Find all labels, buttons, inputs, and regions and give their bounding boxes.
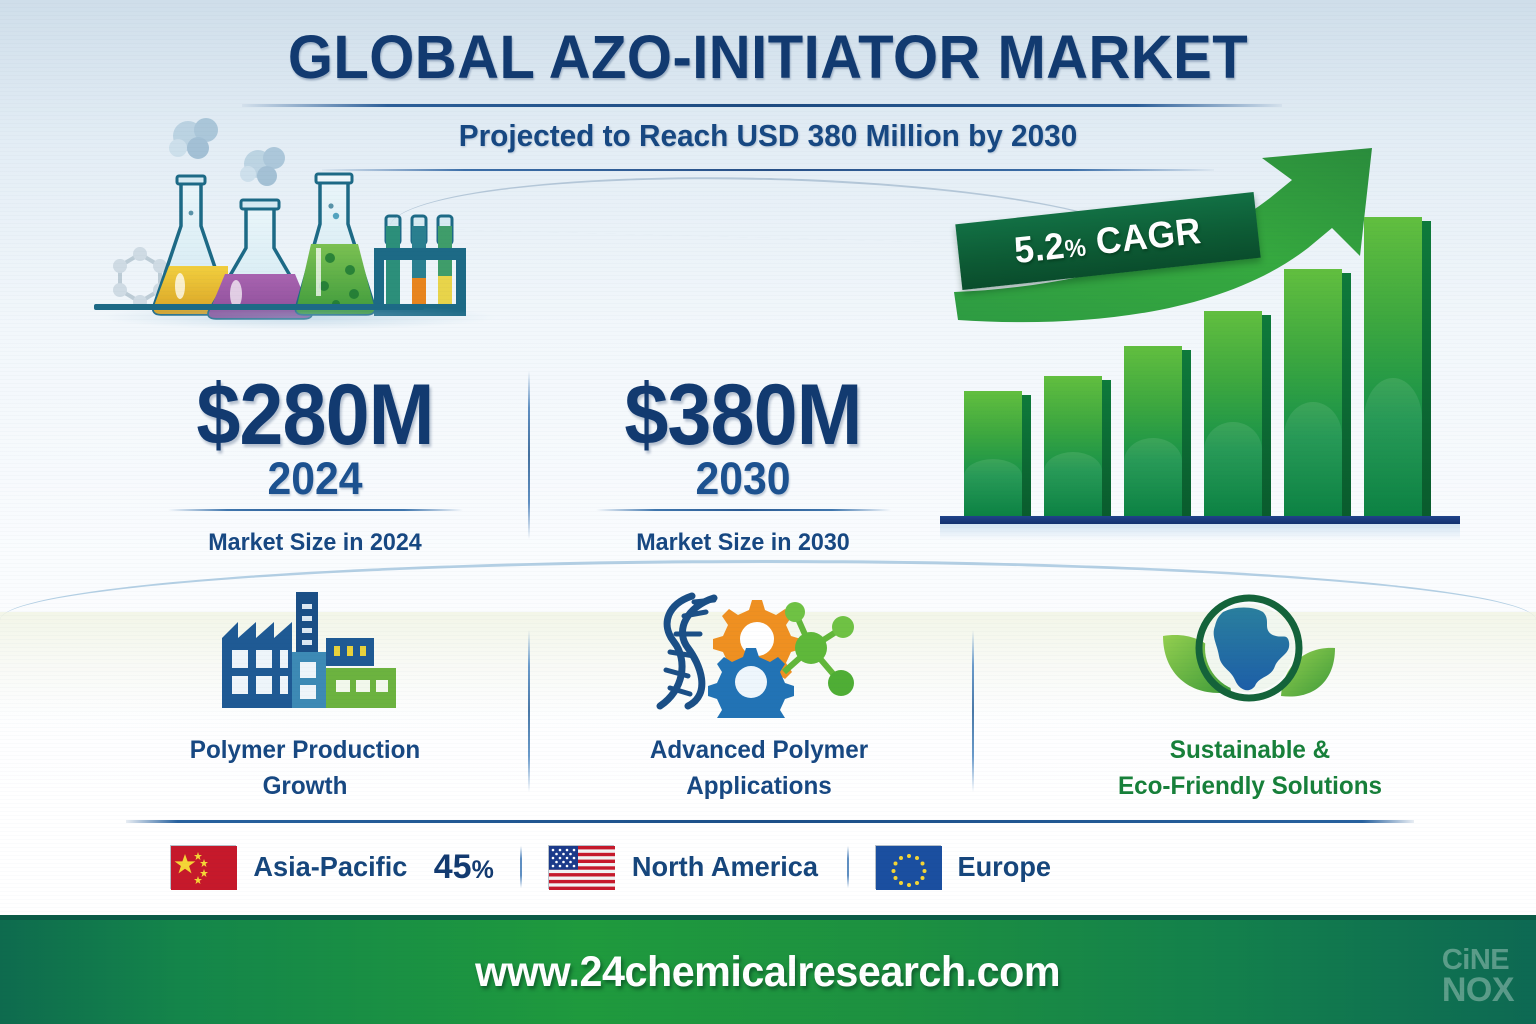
chart-bar-4 [1204,311,1262,516]
footer-bar: www.24chemicalresearch.com CiNE NOX [0,915,1536,1024]
cagr-percent-symbol: % [1064,233,1088,263]
kpi-year-2024: 2024 [158,456,472,501]
china-flag [170,845,236,889]
feature-label-2-line1: Advanced Polymer [650,736,868,764]
feature-separator-2 [972,630,974,792]
cagr-value: 5.2 [1013,225,1067,271]
bench-line [94,304,424,310]
usa-flag [548,845,614,889]
flask-green-icon [296,174,374,314]
feature-label-3-line2: Eco-Friendly Solutions [1118,772,1382,800]
chart-baseline [940,516,1460,524]
dna-helix [660,596,714,706]
feature-label-1-line2: Growth [263,772,348,800]
kpi-year-2030: 2030 [586,456,900,501]
regions-divider [126,820,1414,823]
kpi-card-2024: $280M 2024 Market Size in 2024 [150,372,480,557]
kpi-caption-2030: Market Size in 2030 [583,529,903,557]
chart-bar-1 [964,391,1022,516]
cagr-label: 5.2% CAGR [1013,210,1204,272]
chart-bar-3 [1124,346,1182,516]
kpi-caption-2024: Market Size in 2024 [155,529,475,557]
feature-label-3: Sustainable & Eco-Friendly Solutions [1075,732,1424,805]
region-asia-pacific[interactable]: Asia-Pacific 45% [170,845,494,889]
kpi-separator [528,371,530,539]
region-name-europe: Europe [957,851,1051,883]
chart-bar-2 [1044,376,1102,516]
region-separator-1 [520,846,522,888]
chart-bar-5 [1284,269,1342,516]
test-tube-rack-icon [374,216,466,316]
feature-advanced-polymer-applications: Advanced Polymer Applications [594,590,924,805]
kpi-value-2030: $380M [591,372,895,458]
feature-label-1-line1: Polymer Production [190,736,420,764]
vapor-molecule-icon [169,118,218,159]
feature-label-2: Advanced Polymer Applications [599,732,919,805]
feature-sustainable-eco-friendly: Sustainable & Eco-Friendly Solutions [1070,590,1430,805]
region-name-asia-pacific: Asia-Pacific [253,851,407,883]
flask-purple-icon [209,200,311,318]
feature-label-3-line1: Sustainable & [1170,736,1330,764]
region-separator-2 [847,846,849,888]
feature-label-2-line2: Applications [686,772,832,800]
cagr-word: CAGR [1094,210,1203,262]
dna-gears-molecule-icon [594,590,924,718]
feature-separator-1 [528,630,530,792]
watermark-line-2: NOX [1442,975,1514,1006]
infographic-canvas: GLOBAL AZO-INITIATOR MARKET Projected to… [0,0,1536,1024]
kpi-underline-2 [596,509,891,511]
molecule-nodes-green [785,602,854,696]
kpi-value-2024: $280M [163,372,467,458]
kpi-card-2030: $380M 2030 Market Size in 2030 [578,372,908,557]
cinenox-watermark: CiNE NOX [1442,947,1514,1006]
feature-label-1: Polymer Production Growth [145,732,465,805]
footer-url[interactable]: www.24chemicalresearch.com [476,948,1061,997]
regions-row: Asia-Pacific 45% [126,836,1414,898]
growth-bar-chart: 5.2% CAGR [940,140,1460,540]
kpi-underline [168,509,463,511]
region-europe[interactable]: Europe [875,845,1052,889]
page-title: GLOBAL AZO-INITIATOR MARKET [38,22,1497,92]
region-share-asia-pacific: 45% [434,848,494,887]
eu-flag [875,845,941,889]
vapor-molecule-icon-2 [240,147,285,186]
globe-leaves-icon [1070,590,1430,718]
chart-baseline-reflection [940,524,1460,540]
factory-icon [140,590,470,718]
region-north-america[interactable]: North America [548,845,821,889]
chart-bar-6 [1364,217,1422,516]
title-divider [242,104,1282,107]
hexagon-molecule-icon [120,254,160,302]
feature-polymer-production-growth: Polymer Production Growth [140,590,470,805]
region-name-north-america: North America [632,851,818,883]
